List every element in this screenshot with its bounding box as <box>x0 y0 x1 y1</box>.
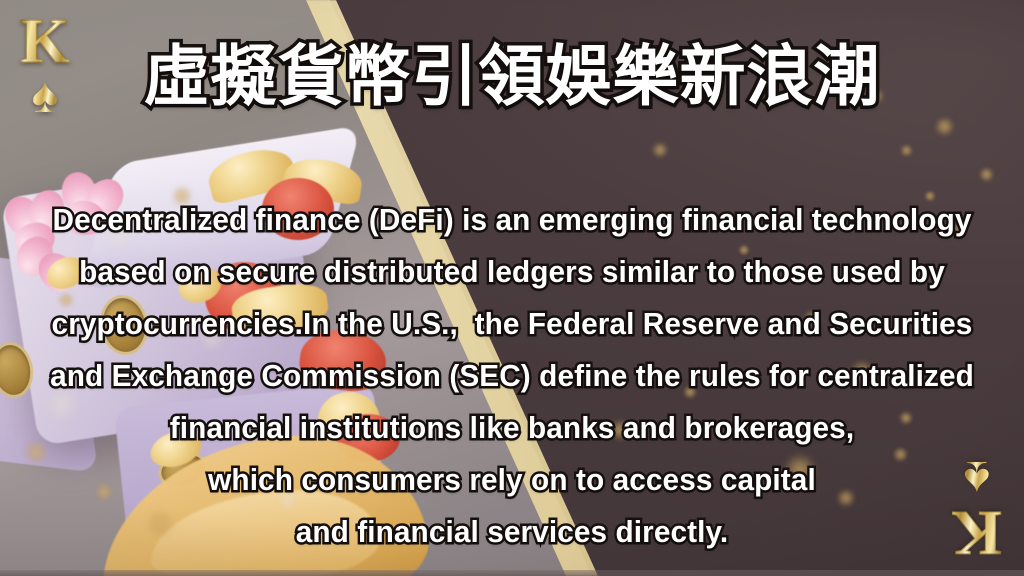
body-line: cryptocurrencies.In the U.S., the Federa… <box>20 298 1003 350</box>
bokeh-dot <box>980 168 993 181</box>
bokeh-dot <box>901 145 912 156</box>
bokeh-dot <box>653 143 667 157</box>
bottom-edge-band <box>0 570 1024 576</box>
body-line: and Exchange Commission (SEC) define the… <box>20 350 1003 402</box>
body-line: financial institutions like banks and br… <box>20 402 1003 454</box>
body-line: and financial services directly. <box>20 506 1003 558</box>
poster-canvas: K ♠ K ♠ 虛擬貨幣引領娛樂新浪潮 Decentralized financ… <box>0 0 1024 576</box>
body-paragraph: Decentralized finance (DeFi) is an emerg… <box>0 194 1024 558</box>
headline-title: 虛擬貨幣引領娛樂新浪潮 <box>0 44 1024 110</box>
body-line: Decentralized finance (DeFi) is an emerg… <box>20 194 1003 246</box>
body-line: based on secure distributed ledgers simi… <box>20 246 1003 298</box>
body-line: which consumers rely on to access capita… <box>20 454 1003 506</box>
bokeh-dot <box>936 118 953 135</box>
